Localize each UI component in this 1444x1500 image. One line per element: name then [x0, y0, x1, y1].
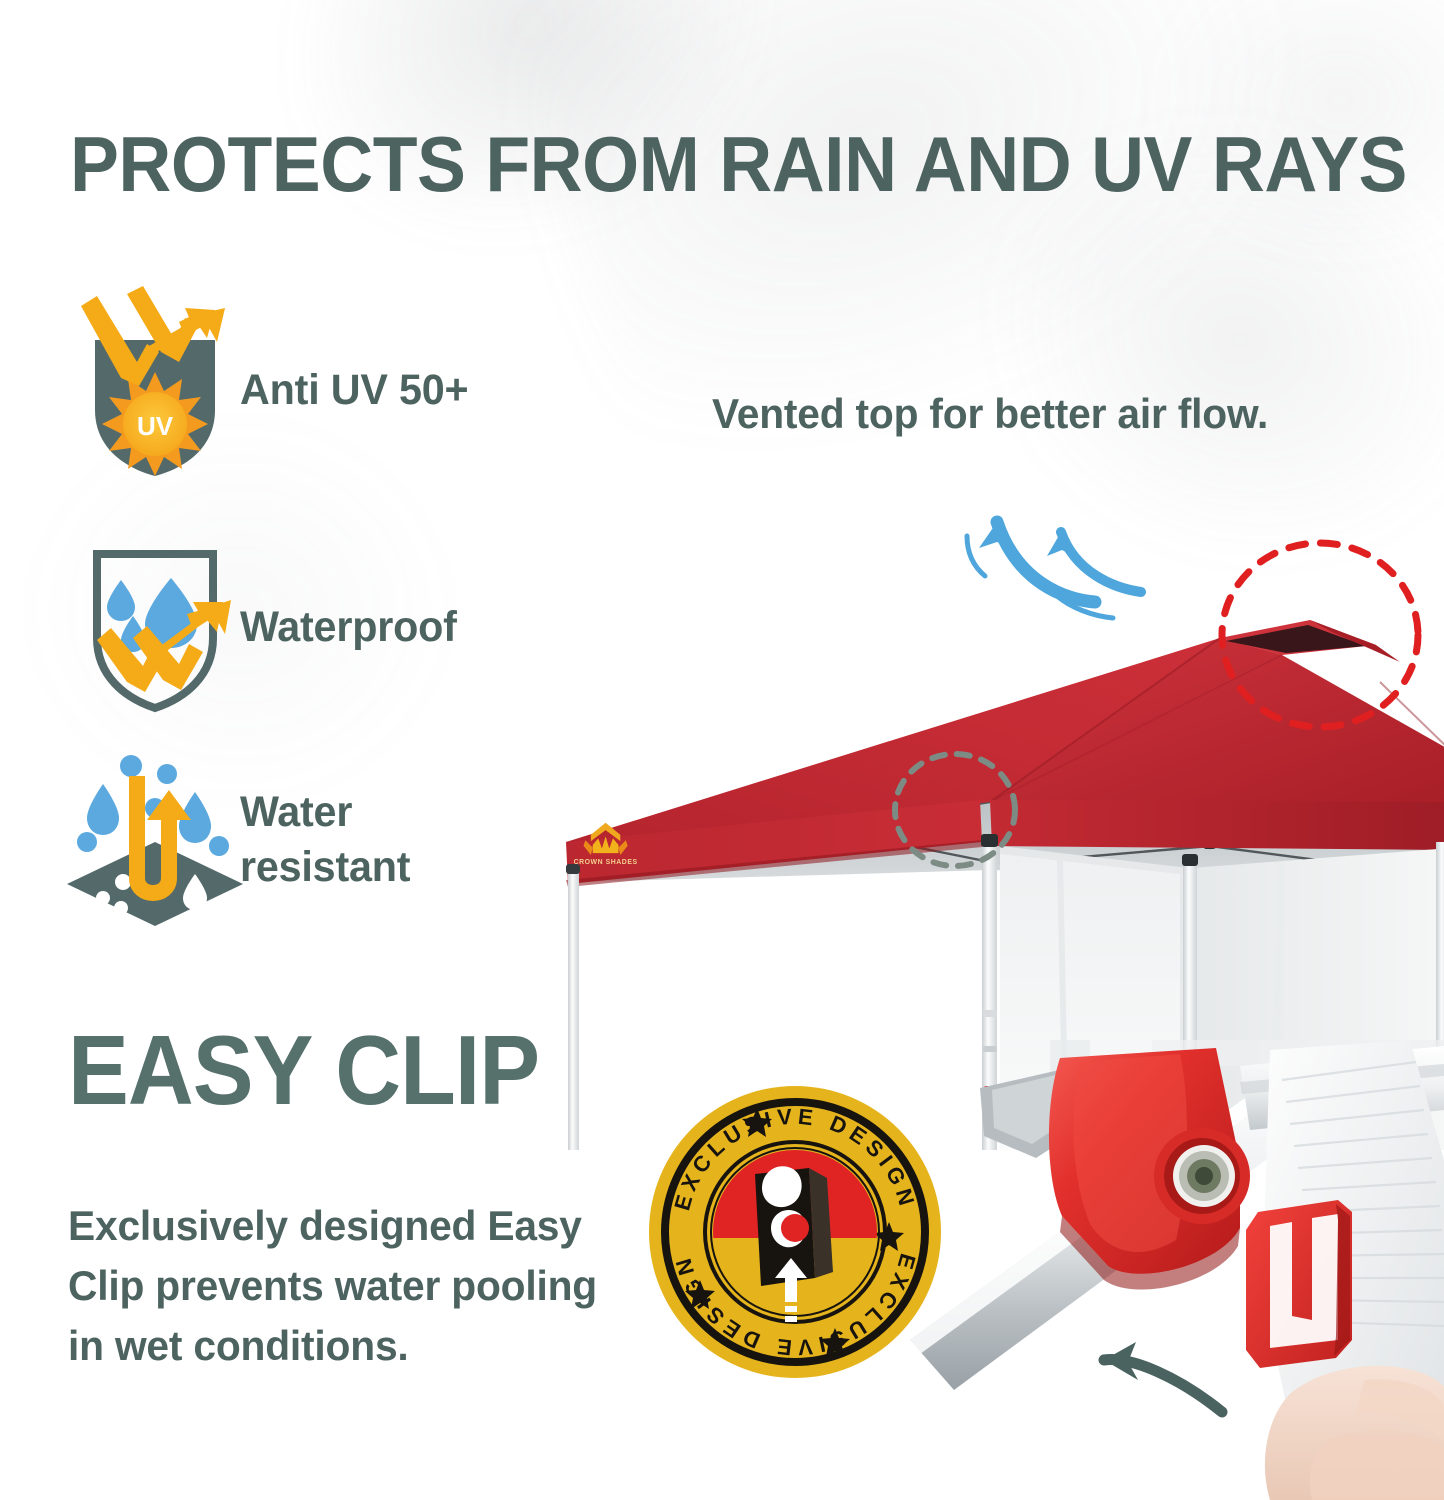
feature-water-resistant: Water resistant: [70, 750, 417, 930]
page-title: PROTECTS FROM RAIN AND UV RAYS: [70, 122, 1407, 206]
water-resistant-surface-icon: [70, 750, 240, 930]
uv-shield-icon: UV: [70, 300, 240, 480]
feature-label-anti-uv: Anti UV 50+: [240, 363, 468, 418]
feature-label-line2: resistant: [240, 840, 410, 895]
easy-clip-body: Exclusively designed Easy Clip prevents …: [68, 1196, 611, 1376]
waterproof-shield-icon: [70, 540, 240, 715]
svg-text:CROWN SHADES: CROWN SHADES: [574, 859, 638, 866]
exclusive-design-badge: EXCLUSIVE DESIGN EXCLUSIVE DESIGN: [645, 1082, 945, 1382]
easy-clip-photo: [940, 1040, 1444, 1500]
vented-top-caption: Vented top for better air flow.: [712, 388, 1268, 440]
feature-label-line1: Water: [240, 785, 410, 840]
feature-label-water-resistant: Water resistant: [240, 785, 410, 895]
uv-icon-label: UV: [137, 411, 174, 441]
easy-clip-title: EASY CLIP: [68, 1018, 539, 1122]
infographic-canvas: CROWN SHADES: [0, 0, 1444, 1500]
feature-anti-uv: UV Anti UV 50+: [70, 300, 478, 480]
feature-label-waterproof: Waterproof: [240, 600, 457, 655]
clip-direction-arrow: [1104, 1342, 1222, 1412]
feature-waterproof: Waterproof: [70, 540, 466, 715]
airflow-arrows-icon: [945, 470, 1195, 640]
